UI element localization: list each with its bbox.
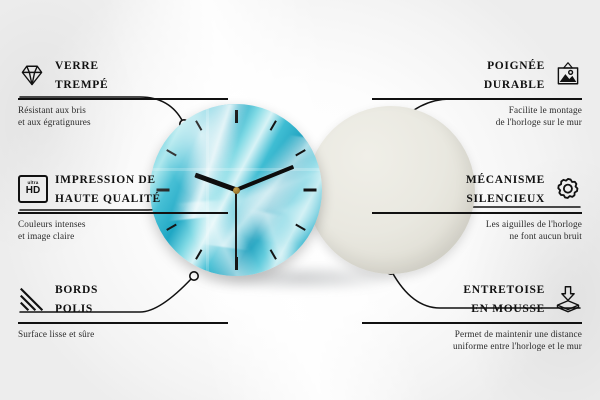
feature-callout-polished-edges: BORDS POLIS Surface lisse et sûre: [18, 280, 228, 340]
feature-callout-silent-movement: MÉCANISME SILENCIEUX Les aiguilles de l'…: [372, 170, 582, 243]
feature-desc-line2: et aux égratignures: [18, 117, 91, 127]
feature-title-line2: EN MOUSSE: [471, 303, 545, 315]
feature-title-line2: POLIS: [55, 303, 93, 315]
feature-desc-line1: Résistant aux bris: [18, 105, 86, 115]
gear-icon: [554, 175, 582, 203]
feature-divider: [18, 322, 228, 324]
feature-header: ENTRETOISE EN MOUSSE: [362, 280, 582, 317]
feature-description: Les aiguilles de l'horloge ne font aucun…: [372, 218, 582, 243]
ultra-hd-icon-large-text: HD: [26, 186, 40, 196]
feature-callout-tempered-glass: VERRE TREMPÉ Résistant aux bris et aux é…: [18, 56, 228, 129]
feature-desc-line2: de l'horloge sur le mur: [496, 117, 582, 127]
feature-callout-foam-spacer: ENTRETOISE EN MOUSSE Permet de maintenir…: [362, 280, 582, 353]
feature-description: Surface lisse et sûre: [18, 328, 228, 340]
feature-header: BORDS POLIS: [18, 280, 228, 317]
feature-desc-line2: et image claire: [18, 231, 74, 241]
feature-divider: [18, 212, 228, 214]
foam-spacer-press-icon: [554, 285, 582, 313]
feature-callout-print-quality: ultra HD IMPRESSION DE HAUTE QUALITÉ Cou…: [18, 170, 228, 243]
polished-edge-lines-icon: [18, 285, 46, 313]
feature-title-line1: MÉCANISME: [466, 174, 545, 186]
feature-header: MÉCANISME SILENCIEUX: [372, 170, 582, 207]
feature-title-line2: TREMPÉ: [55, 79, 108, 91]
feature-title-line1: BORDS: [55, 284, 98, 296]
feature-divider: [372, 98, 582, 100]
feature-description: Couleurs intenses et image claire: [18, 218, 228, 243]
feature-header: POIGNÉE DURABLE: [372, 56, 582, 93]
feature-title: VERRE TREMPÉ: [55, 56, 108, 93]
feature-desc-line2: uniforme entre l'horloge et le mur: [453, 341, 582, 351]
feature-title: MÉCANISME SILENCIEUX: [466, 170, 545, 207]
diamond-icon: [18, 61, 46, 89]
feature-description: Résistant aux bris et aux égratignures: [18, 104, 228, 129]
feature-title: POIGNÉE DURABLE: [484, 56, 545, 93]
feature-title: ENTRETOISE EN MOUSSE: [463, 280, 545, 317]
feature-title: BORDS POLIS: [55, 280, 98, 317]
feature-divider: [372, 212, 582, 214]
feature-header: ultra HD IMPRESSION DE HAUTE QUALITÉ: [18, 170, 228, 207]
infographic-canvas: VERRE TREMPÉ Résistant aux bris et aux é…: [0, 0, 600, 400]
feature-title-line1: ENTRETOISE: [463, 284, 545, 296]
feature-divider: [18, 98, 228, 100]
feature-title-line1: IMPRESSION DE: [55, 174, 156, 186]
feature-desc-line1: Surface lisse et sûre: [18, 329, 94, 339]
feature-divider: [362, 322, 582, 324]
feature-title-line2: SILENCIEUX: [466, 193, 545, 205]
feature-header: VERRE TREMPÉ: [18, 56, 228, 93]
feature-desc-line1: Permet de maintenir une distance: [455, 329, 582, 339]
feature-title: IMPRESSION DE HAUTE QUALITÉ: [55, 170, 161, 207]
feature-desc-line1: Les aiguilles de l'horloge: [486, 219, 582, 229]
feature-title-line1: VERRE: [55, 60, 99, 72]
ultra-hd-icon: ultra HD: [18, 175, 46, 203]
feature-title-line2: DURABLE: [484, 79, 545, 91]
feature-desc-line2: ne font aucun bruit: [509, 231, 582, 241]
feature-desc-line1: Facilite le montage: [509, 105, 582, 115]
feature-callout-durable-hanger: POIGNÉE DURABLE Facilite le montage de l…: [372, 56, 582, 129]
feature-title-line1: POIGNÉE: [487, 60, 545, 72]
feature-description: Permet de maintenir une distance uniform…: [362, 328, 582, 353]
wall-frame-hanger-icon: [554, 61, 582, 89]
feature-desc-line1: Couleurs intenses: [18, 219, 86, 229]
feature-description: Facilite le montage de l'horloge sur le …: [372, 104, 582, 129]
feature-title-line2: HAUTE QUALITÉ: [55, 193, 161, 205]
